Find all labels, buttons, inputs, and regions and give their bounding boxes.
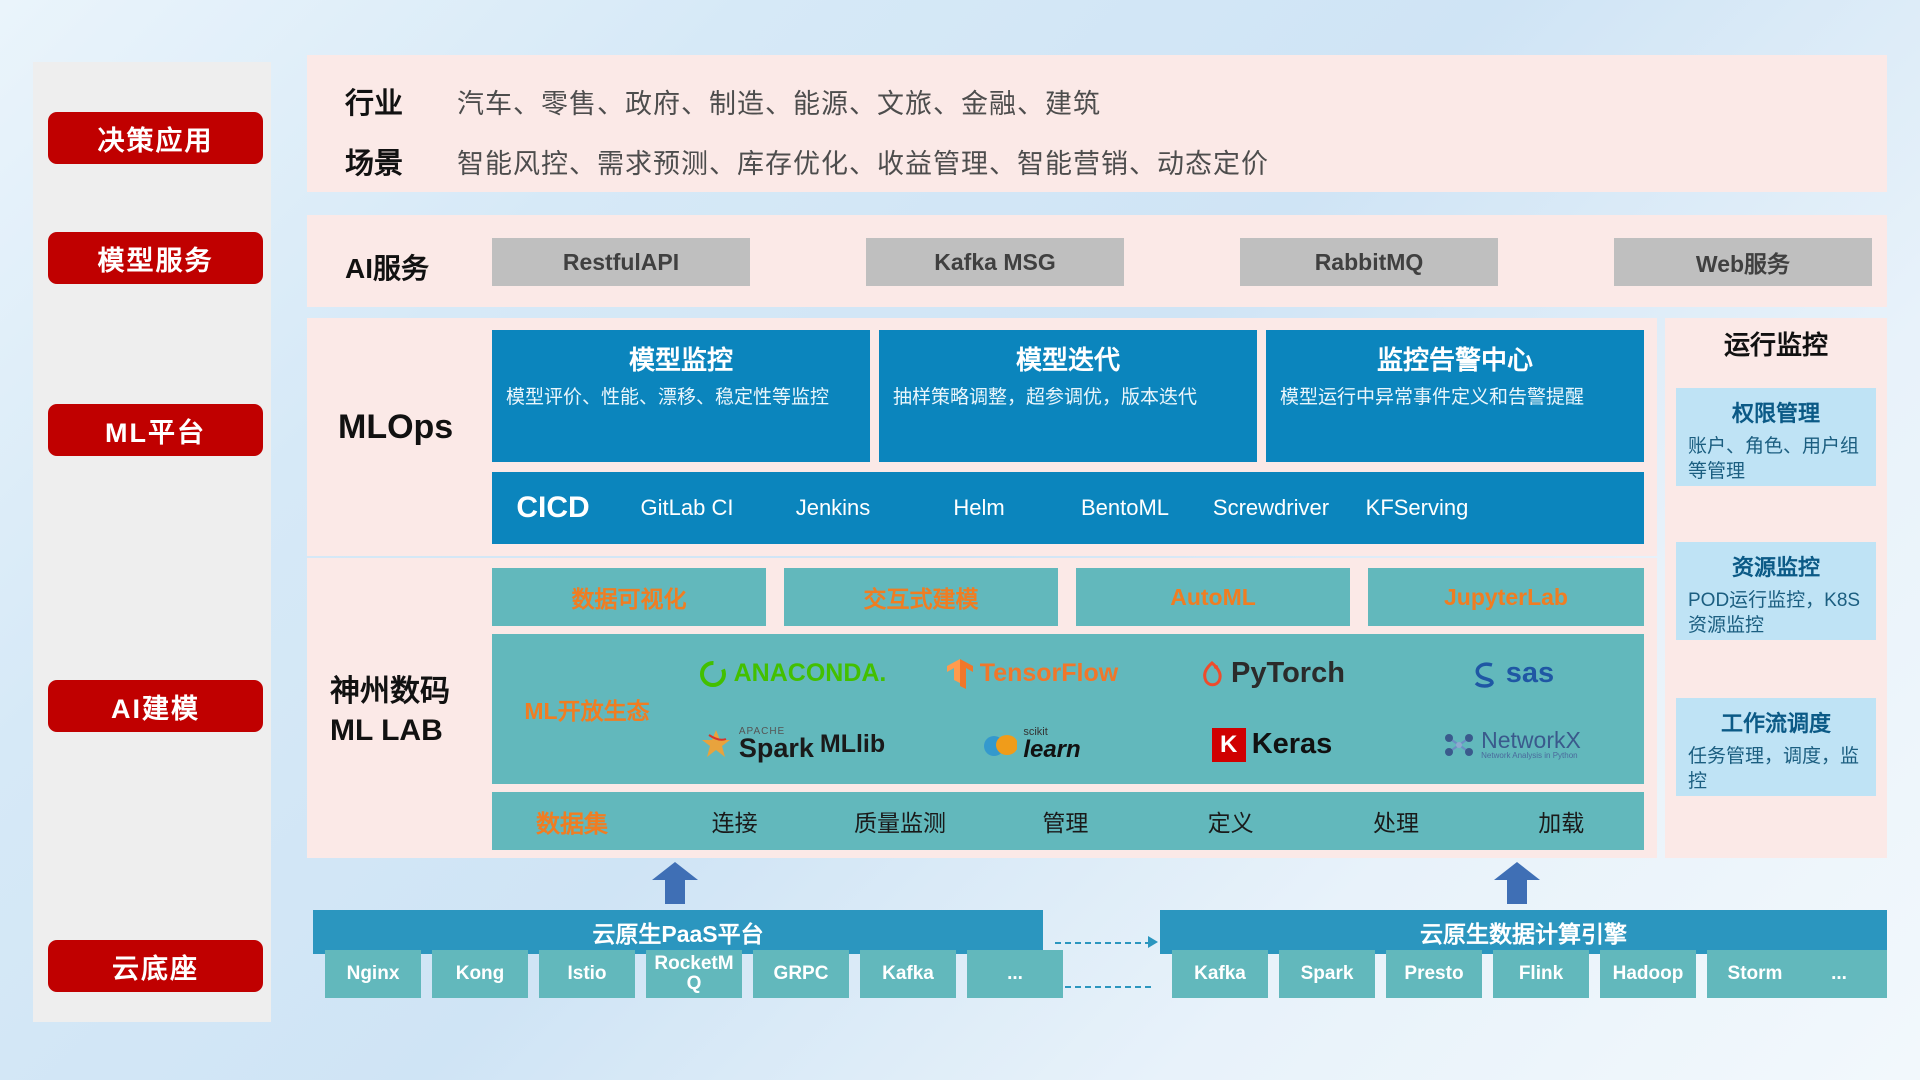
rail-item-model-service[interactable]: 模型服务 bbox=[48, 232, 263, 284]
dataset-title: 数据集 bbox=[492, 804, 652, 839]
chip-label: Kafka MSG bbox=[934, 249, 1055, 276]
industry-value: 汽车、零售、政府、制造、能源、文旅、金融、建筑 bbox=[457, 82, 1101, 121]
compute-chip-hadoop[interactable]: Hadoop bbox=[1600, 950, 1696, 998]
ml-lab-line2: ML LAB bbox=[330, 714, 443, 747]
chip-label: JupyterLab bbox=[1444, 584, 1568, 611]
monitor-card-desc: 任务管理，调度，监控 bbox=[1688, 744, 1864, 794]
spark-label: Spark bbox=[739, 736, 814, 762]
ops-card-title: 模型迭代 bbox=[893, 340, 1243, 377]
logo-label: MLlib bbox=[820, 730, 885, 759]
scikit-learn-icon bbox=[983, 730, 1017, 760]
rail-item-ml-platform[interactable]: ML平台 bbox=[48, 404, 263, 456]
scenario-row: 场景 智能风控、需求预测、库存优化、收益管理、智能营销、动态定价 bbox=[307, 140, 1887, 182]
cloud-chip-nginx[interactable]: Nginx bbox=[325, 950, 421, 998]
cloud-chip-istio[interactable]: Istio bbox=[539, 950, 635, 998]
arrow-up-paas-icon bbox=[652, 862, 698, 904]
chip-label: ... bbox=[1831, 964, 1847, 984]
compute-chip-presto[interactable]: Presto bbox=[1386, 950, 1482, 998]
ecosystem-logo-grid: ANACONDA. TensorFlow PyTorch bbox=[672, 638, 1632, 780]
tool-chip-data-visualization[interactable]: 数据可视化 bbox=[492, 568, 766, 626]
ops-card-desc: 抽样策略调整，超参调优，版本迭代 bbox=[893, 385, 1243, 411]
ops-card-model-monitoring[interactable]: 模型监控 模型评价、性能、漂移、稳定性等监控 bbox=[492, 330, 870, 462]
dataset-item-quality[interactable]: 质量监测 bbox=[817, 804, 982, 838]
ml-lab-label: 神州数码 ML LAB bbox=[330, 672, 450, 750]
spark-icon bbox=[699, 727, 733, 761]
logo-spark-mllib[interactable]: APACHE Spark MLlib bbox=[699, 727, 885, 762]
networkx-subtitle: Network Analysis in Python bbox=[1481, 752, 1581, 760]
chip-label: Istio bbox=[567, 964, 606, 984]
chip-label: GRPC bbox=[774, 964, 829, 984]
monitor-card-desc: 账户、角色、用户组等管理 bbox=[1688, 434, 1864, 484]
ai-service-label: AI服务 bbox=[345, 247, 429, 287]
chip-label: Web服务 bbox=[1696, 245, 1790, 279]
service-chip-web-service[interactable]: Web服务 bbox=[1614, 238, 1872, 286]
monitor-card-resource[interactable]: 资源监控 POD运行监控，K8S资源监控 bbox=[1676, 542, 1876, 640]
cloud-chip-kong[interactable]: Kong bbox=[432, 950, 528, 998]
logo-sas[interactable]: sas bbox=[1470, 657, 1554, 690]
networkx-icon bbox=[1443, 730, 1475, 760]
dashed-connector-right bbox=[1055, 942, 1151, 944]
dataset-item-process[interactable]: 处理 bbox=[1313, 804, 1478, 838]
chip-label: 交互式建模 bbox=[864, 580, 979, 614]
tensorflow-icon bbox=[946, 658, 974, 690]
ops-card-model-iteration[interactable]: 模型迭代 抽样策略调整，超参调优，版本迭代 bbox=[879, 330, 1257, 462]
chip-label: Hadoop bbox=[1613, 964, 1684, 984]
chip-label: Storm bbox=[1728, 964, 1783, 984]
tool-chip-jupyterlab[interactable]: JupyterLab bbox=[1368, 568, 1644, 626]
chip-label: Spark bbox=[1301, 964, 1354, 984]
chip-label: Kafka bbox=[1194, 964, 1246, 984]
cicd-title: CICD bbox=[492, 491, 614, 525]
tool-chip-interactive-modeling[interactable]: 交互式建模 bbox=[784, 568, 1058, 626]
logo-anaconda[interactable]: ANACONDA. bbox=[698, 659, 887, 689]
anaconda-icon bbox=[698, 659, 728, 689]
compute-chip-more[interactable]: ... bbox=[1791, 950, 1887, 998]
bar-label: 云原生PaaS平台 bbox=[592, 915, 763, 949]
logo-label: PyTorch bbox=[1231, 657, 1345, 690]
logo-label: learn bbox=[1023, 738, 1080, 762]
logo-networkx[interactable]: NetworkX Network Analysis in Python bbox=[1443, 729, 1581, 760]
ml-ecosystem-box: ML开放生态 ANACONDA. TensorFlow bbox=[492, 634, 1644, 784]
logo-keras[interactable]: K Keras bbox=[1212, 728, 1333, 762]
dashed-connector-left bbox=[1055, 986, 1151, 988]
bar-label: 云原生数据计算引擎 bbox=[1420, 915, 1627, 949]
cloud-chip-kafka[interactable]: Kafka bbox=[860, 950, 956, 998]
logo-scikit-learn[interactable]: scikit learn bbox=[983, 727, 1080, 762]
logo-label: Keras bbox=[1252, 728, 1333, 761]
chip-label: Flink bbox=[1519, 964, 1563, 984]
ops-card-title: 模型监控 bbox=[506, 340, 856, 377]
chip-label: AutoML bbox=[1170, 584, 1256, 611]
cicd-item-helm[interactable]: Helm bbox=[906, 497, 1052, 519]
architecture-diagram: 决策应用 模型服务 ML平台 AI建模 云底座 行业 汽车、零售、政府、制造、能… bbox=[0, 0, 1920, 1080]
dataset-bar: 数据集 连接 质量监测 管理 定义 处理 加载 bbox=[492, 792, 1644, 850]
cloud-native-compute-bar[interactable]: 云原生数据计算引擎 bbox=[1160, 910, 1887, 954]
cloud-chip-grpc[interactable]: GRPC bbox=[753, 950, 849, 998]
cloud-native-paas-bar[interactable]: 云原生PaaS平台 bbox=[313, 910, 1043, 954]
chip-label: RocketMQ bbox=[650, 954, 738, 994]
monitor-card-permission[interactable]: 权限管理 账户、角色、用户组等管理 bbox=[1676, 388, 1876, 486]
service-chip-kafka-msg[interactable]: Kafka MSG bbox=[866, 238, 1124, 286]
logo-tensorflow[interactable]: TensorFlow bbox=[946, 658, 1118, 690]
run-monitor-title: 运行监控 bbox=[1665, 325, 1887, 362]
compute-chip-flink[interactable]: Flink bbox=[1493, 950, 1589, 998]
monitor-card-desc: POD运行监控，K8S资源监控 bbox=[1688, 588, 1864, 638]
logo-label: sas bbox=[1506, 657, 1554, 690]
service-chip-restfulapi[interactable]: RestfulAPI bbox=[492, 238, 750, 286]
logo-label: ANACONDA. bbox=[734, 659, 887, 688]
scenario-value: 智能风控、需求预测、库存优化、收益管理、智能营销、动态定价 bbox=[457, 142, 1269, 181]
rail-label: 云底座 bbox=[112, 947, 199, 986]
chip-label: Kafka bbox=[882, 964, 934, 984]
chip-label: RestfulAPI bbox=[563, 249, 679, 276]
rail-label: AI建模 bbox=[111, 687, 200, 726]
chip-label: Kong bbox=[456, 964, 505, 984]
mlops-label: MLOps bbox=[338, 408, 453, 447]
logo-label: NetworkX bbox=[1481, 729, 1581, 752]
rail-label: 模型服务 bbox=[98, 239, 214, 278]
rail-label: ML平台 bbox=[105, 411, 206, 450]
ops-card-title: 监控告警中心 bbox=[1280, 340, 1630, 377]
ops-card-desc: 模型评价、性能、漂移、稳定性等监控 bbox=[506, 385, 856, 411]
ops-card-desc: 模型运行中异常事件定义和告警提醒 bbox=[1280, 385, 1630, 411]
service-chip-rabbitmq[interactable]: RabbitMQ bbox=[1240, 238, 1498, 286]
monitor-card-title: 资源监控 bbox=[1688, 550, 1864, 582]
chip-label: ... bbox=[1007, 964, 1023, 984]
dataset-item-connect[interactable]: 连接 bbox=[652, 804, 817, 838]
cloud-chip-rocketmq[interactable]: RocketMQ bbox=[646, 950, 742, 998]
monitor-card-title: 权限管理 bbox=[1688, 396, 1864, 428]
chip-label: 数据可视化 bbox=[572, 580, 687, 614]
industry-key: 行业 bbox=[307, 80, 457, 122]
rail-item-ai-modeling[interactable]: AI建模 bbox=[48, 680, 263, 732]
rail-label: 决策应用 bbox=[98, 119, 214, 158]
tool-chip-automl[interactable]: AutoML bbox=[1076, 568, 1350, 626]
sas-icon bbox=[1470, 660, 1500, 688]
pytorch-icon bbox=[1199, 659, 1225, 689]
monitor-card-workflow[interactable]: 工作流调度 任务管理，调度，监控 bbox=[1676, 698, 1876, 796]
cicd-item-bentoml[interactable]: BentoML bbox=[1052, 497, 1198, 519]
dashed-arrow-right-icon bbox=[1148, 936, 1158, 948]
arrow-up-compute-icon bbox=[1494, 862, 1540, 904]
dataset-item-load[interactable]: 加载 bbox=[1479, 804, 1644, 838]
rail-item-decision-app[interactable]: 决策应用 bbox=[48, 112, 263, 164]
chip-label: Nginx bbox=[347, 964, 400, 984]
scenario-key: 场景 bbox=[307, 140, 457, 182]
ops-card-alert-center[interactable]: 监控告警中心 模型运行中异常事件定义和告警提醒 bbox=[1266, 330, 1644, 462]
cicd-bar: CICD GitLab CI Jenkins Helm BentoML Scre… bbox=[492, 472, 1644, 544]
ml-ecosystem-label: ML开放生态 bbox=[512, 692, 662, 726]
cloud-chip-more[interactable]: ... bbox=[967, 950, 1063, 998]
cicd-item-kfserving[interactable]: KFServing bbox=[1344, 497, 1490, 519]
cicd-item-screwdriver[interactable]: Screwdriver bbox=[1198, 497, 1344, 519]
keras-icon: K bbox=[1212, 728, 1246, 762]
dataset-item-define[interactable]: 定义 bbox=[1148, 804, 1313, 838]
ml-lab-line1: 神州数码 bbox=[330, 675, 450, 708]
chip-label: RabbitMQ bbox=[1315, 249, 1424, 276]
compute-chip-storm[interactable]: Storm bbox=[1707, 950, 1803, 998]
chip-label: Presto bbox=[1404, 964, 1463, 984]
compute-chip-kafka[interactable]: Kafka bbox=[1172, 950, 1268, 998]
compute-chip-spark[interactable]: Spark bbox=[1279, 950, 1375, 998]
monitor-card-title: 工作流调度 bbox=[1688, 706, 1864, 738]
left-rail bbox=[33, 62, 271, 1022]
logo-pytorch[interactable]: PyTorch bbox=[1199, 657, 1345, 690]
logo-label: TensorFlow bbox=[980, 659, 1118, 688]
industry-row: 行业 汽车、零售、政府、制造、能源、文旅、金融、建筑 bbox=[307, 80, 1887, 122]
cicd-item-jenkins[interactable]: Jenkins bbox=[760, 497, 906, 519]
cicd-item-gitlab-ci[interactable]: GitLab CI bbox=[614, 497, 760, 519]
rail-item-cloud-base[interactable]: 云底座 bbox=[48, 940, 263, 992]
dataset-item-manage[interactable]: 管理 bbox=[983, 804, 1148, 838]
